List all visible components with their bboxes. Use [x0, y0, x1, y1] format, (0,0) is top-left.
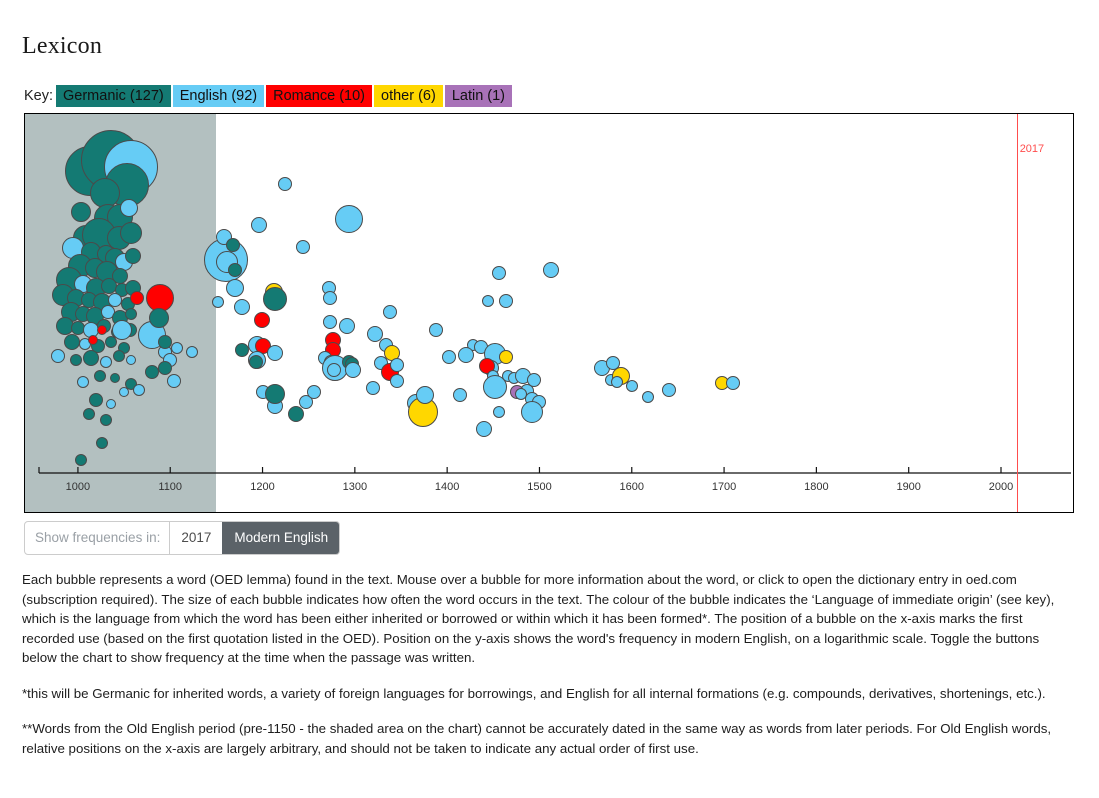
x-axis-tick-label: 1500: [527, 481, 551, 493]
legend-item-other[interactable]: other (6): [374, 85, 443, 107]
footnote-single-asterisk: *this will be Germanic for inherited wor…: [22, 684, 1077, 704]
x-axis-tick-label: 1900: [896, 481, 920, 493]
year-marker-label: 2017: [1020, 143, 1044, 155]
description-paragraph: Each bubble represents a word (OED lemma…: [22, 570, 1077, 668]
frequency-toggle-group[interactable]: Show frequencies in: 2017 Modern English: [24, 521, 340, 555]
x-axis-tick-label: 1800: [804, 481, 828, 493]
legend-item-germanic[interactable]: Germanic (127): [56, 85, 171, 107]
description-text: Each bubble represents a word (OED lemma…: [22, 570, 1077, 758]
footnote-double-asterisk: **Words from the Old English period (pre…: [22, 719, 1077, 758]
x-axis-tick-label: 1600: [620, 481, 644, 493]
x-axis-tick-label: 1000: [66, 481, 90, 493]
frequency-toggle-label: Show frequencies in:: [25, 522, 169, 554]
legend: Key: Germanic (127) English (92) Romance…: [24, 85, 514, 107]
year-marker-layer: 2017: [25, 114, 1073, 512]
year-marker-line: [1017, 114, 1018, 512]
x-axis-tick-label: 2000: [989, 481, 1013, 493]
x-axis-tick-label: 1700: [712, 481, 736, 493]
page-title: Lexicon: [22, 33, 102, 60]
toggle-button-2017[interactable]: 2017: [169, 522, 222, 554]
legend-item-latin[interactable]: Latin (1): [445, 85, 512, 107]
legend-label: Key:: [24, 85, 56, 107]
toggle-button-modern-english[interactable]: Modern English: [222, 522, 339, 554]
legend-item-romance[interactable]: Romance (10): [266, 85, 372, 107]
bubble-chart[interactable]: 2017 10001100120013001400150016001700180…: [24, 113, 1074, 513]
x-axis-tick-label: 1100: [158, 481, 182, 493]
x-axis-tick-label: 1400: [435, 481, 459, 493]
legend-item-english[interactable]: English (92): [173, 85, 264, 107]
x-axis-tick-label: 1300: [343, 481, 367, 493]
x-axis-tick-label: 1200: [250, 481, 274, 493]
